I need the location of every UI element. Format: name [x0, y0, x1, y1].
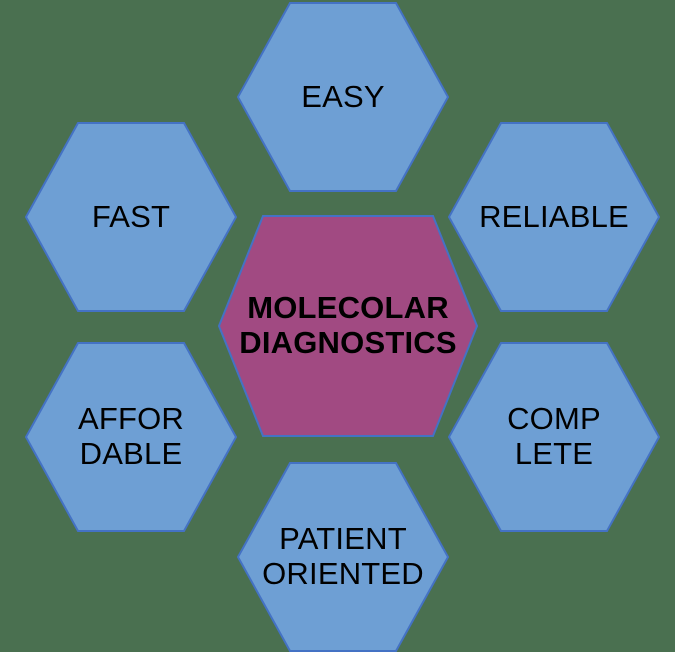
hexagon-reliable[interactable]: RELIABLE: [448, 122, 660, 312]
hexagon-label-complete: COMP LETE: [507, 402, 601, 471]
hexagon-label-fast: FAST: [92, 200, 170, 235]
hexagon-center-molecular-diagnostics[interactable]: MOLECOLAR DIAGNOSTICS: [218, 215, 478, 437]
hexagon-cluster-diagram: EASY RELIABLE COMP LETE PATIENT ORIENTED…: [0, 0, 675, 639]
hexagon-complete[interactable]: COMP LETE: [448, 342, 660, 532]
hexagon-label-center: MOLECOLAR DIAGNOSTICS: [239, 291, 457, 360]
hexagon-easy[interactable]: EASY: [237, 2, 449, 192]
hexagon-label-affordable: AFFOR DABLE: [78, 402, 184, 471]
hexagon-affordable[interactable]: AFFOR DABLE: [25, 342, 237, 532]
hexagon-label-reliable: RELIABLE: [479, 200, 629, 235]
hexagon-label-easy: EASY: [301, 80, 385, 115]
hexagon-patient-oriented[interactable]: PATIENT ORIENTED: [237, 462, 449, 652]
hexagon-fast[interactable]: FAST: [25, 122, 237, 312]
hexagon-label-patient-oriented: PATIENT ORIENTED: [262, 522, 424, 591]
